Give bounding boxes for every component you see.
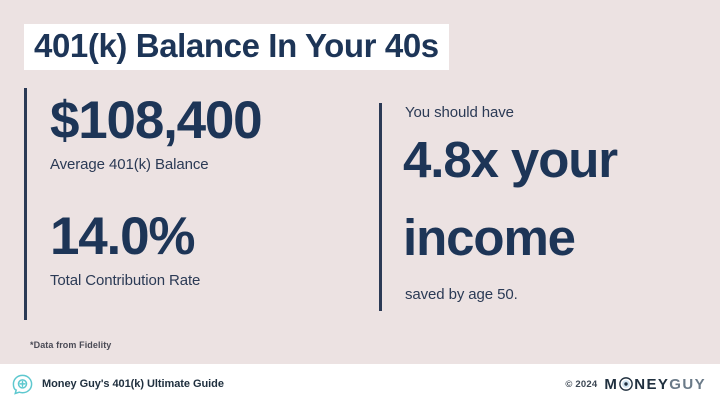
infographic-canvas: 401(k) Balance In Your 40s $108,400 Aver… bbox=[0, 0, 720, 404]
footer-brand: © 2024 M NEY GUY bbox=[565, 376, 706, 393]
footer-guide-title: Money Guy's 401(k) Ultimate Guide bbox=[42, 378, 224, 390]
right-vertical-rule bbox=[379, 103, 382, 311]
title-text: 401(k) Balance In Your 40s bbox=[34, 27, 439, 64]
footer-guide-link[interactable]: Money Guy's 401(k) Ultimate Guide bbox=[12, 374, 224, 395]
stat-label: Average 401(k) Balance bbox=[50, 156, 261, 173]
recommendation-headline-line-1: 4.8x your bbox=[403, 134, 617, 185]
stat-contribution-rate: 14.0% Total Contribution Rate bbox=[50, 210, 200, 289]
copyright-text: © 2024 bbox=[565, 379, 597, 390]
stat-average-balance: $108,400 Average 401(k) Balance bbox=[50, 94, 261, 173]
stats-columns: $108,400 Average 401(k) Balance 14.0% To… bbox=[0, 86, 720, 326]
left-vertical-rule bbox=[24, 88, 27, 320]
title-highlight-band: 401(k) Balance In Your 40s bbox=[24, 24, 449, 71]
moneyguy-wordmark: M NEY GUY bbox=[604, 376, 706, 393]
target-o-icon bbox=[619, 377, 633, 391]
recommendation-closing: saved by age 50. bbox=[405, 286, 518, 303]
wordmark-ney: NEY bbox=[634, 376, 669, 393]
stat-value: 14.0% bbox=[50, 210, 200, 263]
footer-bar: Money Guy's 401(k) Ultimate Guide © 2024… bbox=[0, 364, 720, 404]
data-source-footnote: *Data from Fidelity bbox=[30, 340, 111, 350]
right-recommendation-column: You should have 4.8x your income saved b… bbox=[379, 86, 699, 322]
wordmark-m: M bbox=[604, 376, 618, 393]
stat-value: $108,400 bbox=[50, 94, 261, 147]
recommendation-headline-line-2: income bbox=[403, 212, 575, 263]
recommendation-lead-in: You should have bbox=[405, 104, 514, 121]
left-stats-column: $108,400 Average 401(k) Balance 14.0% To… bbox=[24, 86, 354, 322]
plus-badge-icon bbox=[12, 374, 33, 395]
page-title: 401(k) Balance In Your 40s bbox=[24, 22, 449, 72]
stat-label: Total Contribution Rate bbox=[50, 272, 200, 289]
wordmark-guy: GUY bbox=[669, 376, 706, 393]
